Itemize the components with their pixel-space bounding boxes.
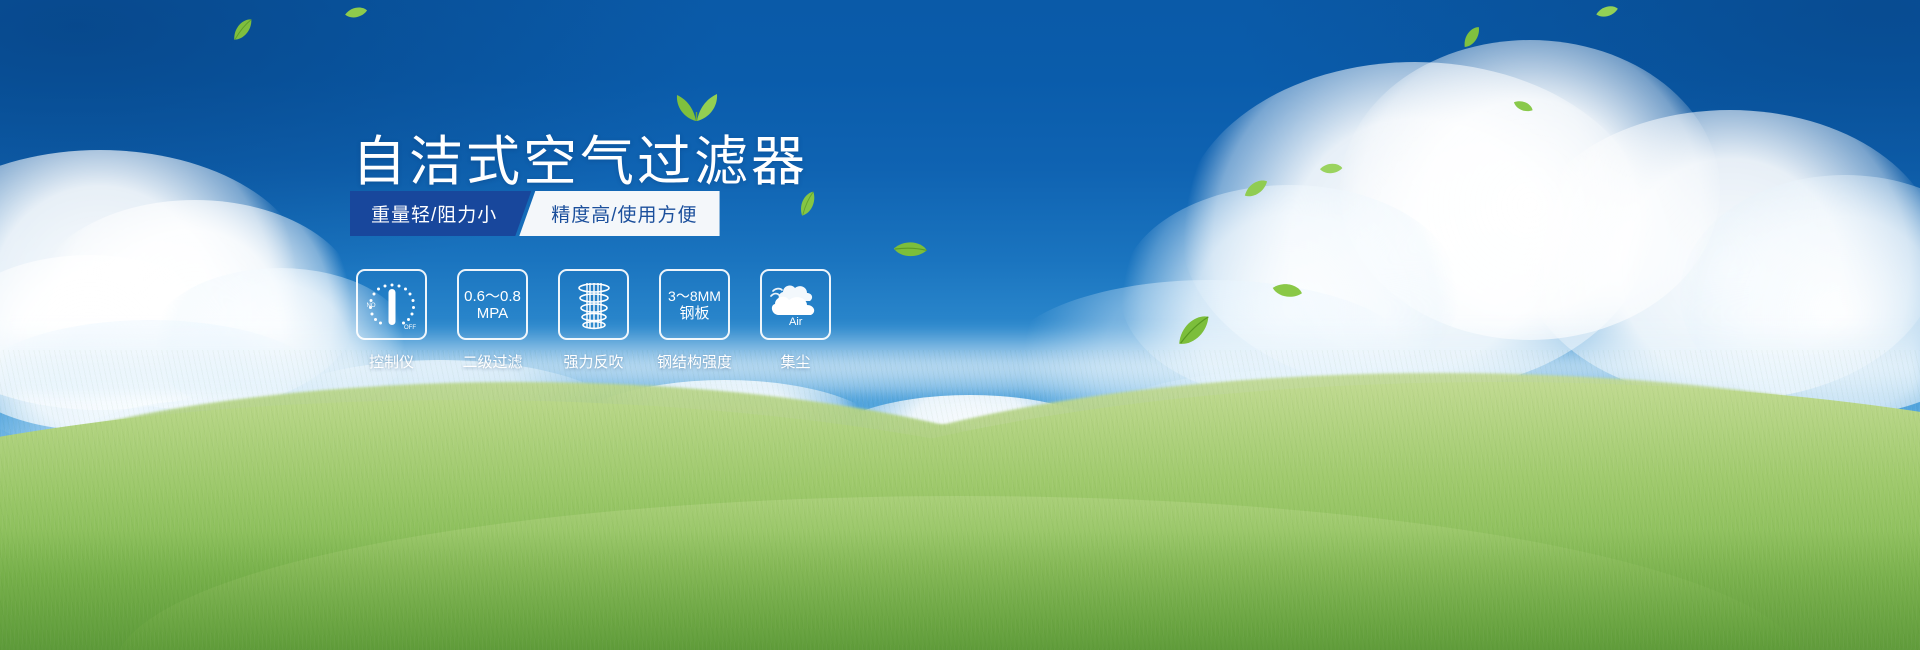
dial-on-label: NO [366, 303, 375, 309]
feature-label-dust-collection: 集尘 [780, 351, 810, 372]
banner-content: 自洁式空气过滤器 重量轻/阻力小 精度高/使用方便 [0, 0, 1920, 650]
feature-label-steel-strength: 钢结构强度 [657, 351, 732, 372]
tab-precision-convenience[interactable]: 精度高/使用方便 [519, 191, 719, 236]
page-title: 自洁式空气过滤器 [352, 117, 808, 196]
feature-icon-box: 3～8MM 钢板 [659, 269, 730, 340]
air-cloud-icon: Air [769, 282, 823, 328]
feature-icon-box [558, 269, 629, 340]
tab-weight-resistance[interactable]: 重量轻/阻力小 [350, 191, 531, 236]
feature-item-steel-strength[interactable]: 3～8MM 钢板 钢结构强度 [659, 269, 730, 372]
blowback-coil-icon [569, 279, 619, 331]
feature-icon-box: 0.6～0.8 MPA [457, 269, 528, 340]
feature-item-controller[interactable]: NO OFF 控制仪 [356, 269, 427, 372]
feature-label-blowback: 强力反吹 [563, 351, 623, 372]
air-label: Air [789, 316, 803, 328]
dial-off-label: OFF [404, 325, 416, 331]
steel-thickness-text: 3～8MM [668, 288, 721, 305]
steel-plate-text: 钢板 [668, 305, 721, 322]
hero-banner: 自洁式空气过滤器 重量轻/阻力小 精度高/使用方便 [0, 0, 1920, 650]
feature-tabs: 重量轻/阻力小 精度高/使用方便 [350, 191, 720, 236]
feature-icon-box: NO OFF [356, 269, 427, 340]
pressure-unit-text: MPA [464, 305, 521, 322]
steel-plate-text-icon: 3～8MM 钢板 [668, 288, 721, 322]
feature-label-two-stage-filter: 二级过滤 [462, 351, 522, 372]
feature-label-controller: 控制仪 [369, 351, 414, 372]
pressure-text-icon: 0.6～0.8 MPA [464, 288, 521, 322]
feature-item-blowback[interactable]: 强力反吹 [558, 269, 629, 372]
feature-item-dust-collection[interactable]: Air 集尘 [760, 269, 831, 372]
feature-list: NO OFF 控制仪 0.6～0.8 MPA 二级过滤 [356, 269, 831, 372]
pressure-range-text: 0.6～0.8 [464, 288, 521, 305]
control-dial-icon: NO OFF [364, 277, 420, 333]
feature-item-two-stage-filter[interactable]: 0.6～0.8 MPA 二级过滤 [457, 269, 528, 372]
feature-icon-box: Air [760, 269, 831, 340]
